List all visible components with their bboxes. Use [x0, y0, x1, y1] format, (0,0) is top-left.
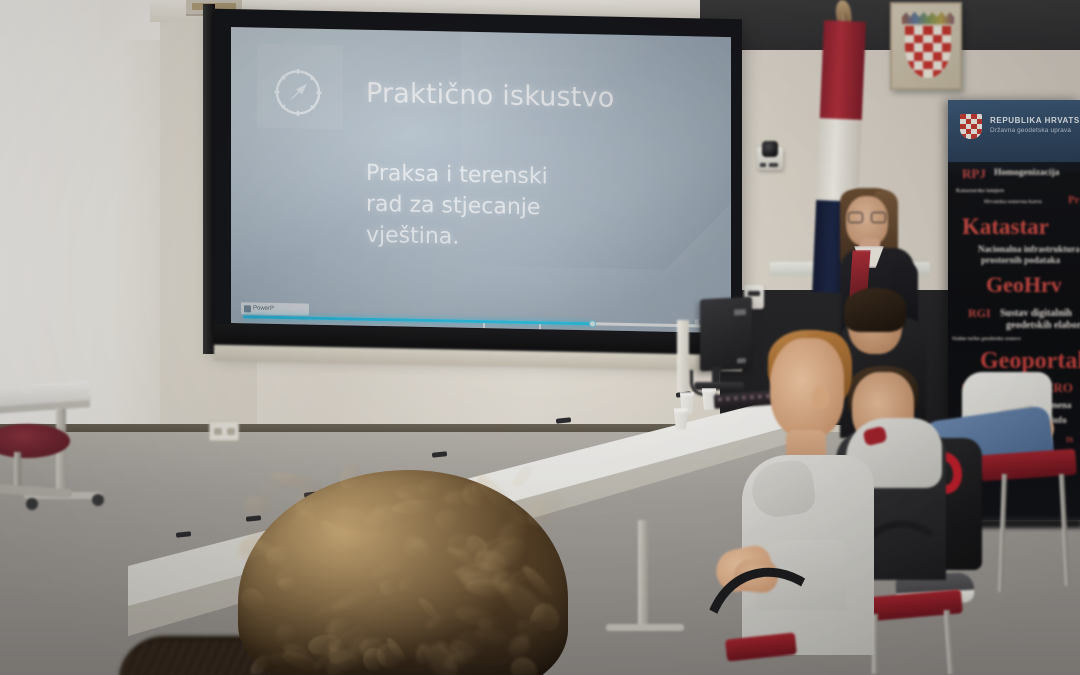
- hair-strand: [276, 625, 295, 644]
- table-caster: [26, 498, 38, 510]
- ptz-camera-icon: [757, 147, 783, 170]
- checker-cell: [923, 35, 932, 44]
- computer-monitor[interactable]: [700, 297, 752, 372]
- checker-cell: [914, 35, 923, 44]
- banner-word: Geoportal: [980, 348, 1080, 375]
- banner-organization: REPUBLIKA HRVATSKA: [990, 116, 1080, 125]
- slide-surface: Praktično iskustvo Praksa i terenski rad…: [231, 27, 731, 333]
- checker-cell: [942, 52, 951, 61]
- left-wall-panel: [0, 0, 160, 430]
- banner-word: GeoHrv: [986, 272, 1062, 298]
- checker-cell: [942, 35, 951, 44]
- eyeglasses-icon: [848, 212, 886, 223]
- banner-word: Nacionalna infrastruktura: [978, 244, 1080, 254]
- checker-cell: [933, 35, 942, 44]
- hair-strand: [236, 583, 268, 615]
- checker-cell: [923, 43, 932, 52]
- checker-cell: [942, 70, 951, 79]
- checker-cell: [905, 26, 914, 35]
- checker-cell: [923, 52, 932, 61]
- camera-lens-icon: [762, 141, 778, 157]
- checker-cell: [923, 61, 932, 70]
- table-foot: [606, 624, 684, 631]
- checker-cell: [914, 52, 923, 61]
- hair-strand: [396, 573, 418, 595]
- hair-strand: [377, 576, 399, 598]
- wall-post: [677, 320, 689, 398]
- progress-knob[interactable]: [589, 320, 596, 327]
- checker-cell: [933, 70, 942, 79]
- banner-word: Homogenizacija: [994, 168, 1059, 178]
- checker-cell: [914, 26, 923, 35]
- checker-cell: [905, 61, 914, 70]
- slide-body: Praksa i terenski rad za stjecanje vješt…: [366, 158, 548, 255]
- checker-cell: [942, 43, 951, 52]
- checker-cell: [933, 61, 942, 70]
- banner-word: Hrvatska osnovna karta: [984, 199, 1042, 205]
- banner-word: RGI: [968, 306, 991, 321]
- checker-cell: [914, 43, 923, 52]
- slide-body-line-2: rad za stjecanje: [366, 189, 548, 224]
- checker-cell: [914, 70, 923, 79]
- hair-strand: [391, 498, 442, 515]
- banner-word: Pr: [1068, 194, 1080, 206]
- projector-screen: Praktično iskustvo Praksa i terenski rad…: [214, 9, 742, 360]
- table-leg: [638, 520, 648, 628]
- banner-word: Katastarske izmjere: [956, 188, 1004, 194]
- banner-department: Državna geodetska uprava: [990, 127, 1071, 134]
- hair-strand: [313, 589, 368, 619]
- room-photo-scene: Praktično iskustvo Praksa i terenski rad…: [0, 0, 1080, 675]
- slide-body-line-3: vještina.: [366, 220, 548, 255]
- croatian-checkerboard-icon: [960, 114, 982, 139]
- banner-word: Stalne točke geodetske osnove: [952, 336, 1021, 342]
- banner-word: Katastar: [962, 214, 1049, 240]
- banner-word: Di: [1066, 436, 1073, 444]
- student-head: [770, 338, 844, 438]
- banner-word: RPJ: [962, 166, 986, 182]
- taskbar-app-chip[interactable]: PowerP: [241, 302, 309, 315]
- power-socket-icon: [209, 421, 239, 441]
- checker-cell: [933, 26, 942, 35]
- hair-strand: [434, 510, 459, 531]
- croatian-coat-of-arms-plaque: [890, 2, 962, 90]
- checker-cell: [905, 35, 914, 44]
- monitor-stand: [694, 382, 744, 390]
- checker-cell: [923, 70, 932, 79]
- banner-header: REPUBLIKA HRVATSKA Državna geodetska upr…: [948, 100, 1080, 162]
- slide-title: Praktično iskustvo: [366, 78, 614, 114]
- slide-body-line-1: Praksa i terenski: [366, 158, 548, 193]
- checker-cell: [942, 26, 951, 35]
- checker-cell: [977, 134, 983, 139]
- plaque-crown: [902, 11, 954, 24]
- table-caster: [92, 494, 104, 506]
- checker-cell: [905, 52, 914, 61]
- banner-word: prostornih podataka: [981, 255, 1060, 265]
- checker-cell: [933, 43, 942, 52]
- checker-cell: [905, 43, 914, 52]
- checker-cell: [942, 61, 951, 70]
- banner-word: Sustav digitalnih: [1000, 308, 1072, 319]
- plaque-shield: [905, 26, 951, 78]
- checker-cell: [905, 70, 914, 79]
- banner-word: geodetskih elaborata: [1006, 320, 1080, 331]
- checker-cell: [914, 61, 923, 70]
- checker-cell: [923, 26, 932, 35]
- checker-cell: [933, 52, 942, 61]
- compass-icon: [269, 63, 327, 127]
